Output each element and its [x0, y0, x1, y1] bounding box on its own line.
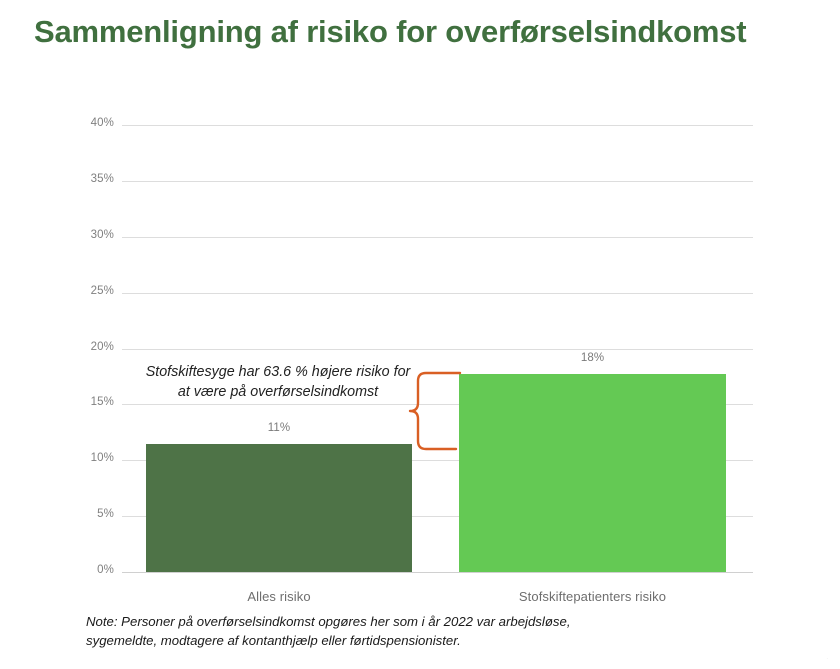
y-axis-tick-label: 20% — [74, 341, 114, 353]
note-line-2: sygemeldte, modtagere af kontanthjælp el… — [86, 631, 786, 650]
gridline — [122, 349, 753, 350]
bar-1[interactable] — [146, 444, 412, 572]
gridline — [122, 293, 753, 294]
y-axis-tick-label: 40% — [74, 117, 114, 129]
bar-2[interactable] — [459, 374, 726, 572]
gridline — [122, 237, 753, 238]
y-axis-tick-label: 10% — [74, 452, 114, 464]
note-line-1: Note: Personer på overførselsindkomst op… — [86, 612, 786, 631]
corner-mark: · — [826, 655, 832, 663]
x-axis-category-label: Alles risiko — [106, 589, 452, 604]
axis-baseline — [122, 572, 753, 573]
chart-page: Sammenligning af risiko for overførselsi… — [0, 0, 840, 669]
bar-chart-plot: 0%5%10%15%20%25%30%35%40%11%Alles risiko… — [0, 0, 840, 669]
bar-value-label: 18% — [459, 352, 726, 364]
y-axis-tick-label: 15% — [74, 396, 114, 408]
chart-annotation: Stofskiftesyge har 63.6 % højere risiko … — [132, 362, 424, 402]
bar-value-label: 11% — [146, 422, 412, 434]
x-axis-category-label: Stofskiftepatienters risiko — [419, 589, 766, 604]
annotation-line-2: at være på overførselsindkomst — [132, 382, 424, 402]
gridline — [122, 125, 753, 126]
y-axis-tick-label: 25% — [74, 285, 114, 297]
y-axis-tick-label: 5% — [74, 508, 114, 520]
y-axis-tick-label: 0% — [74, 564, 114, 576]
y-axis-tick-label: 35% — [74, 173, 114, 185]
annotation-line-1: Stofskiftesyge har 63.6 % højere risiko … — [132, 362, 424, 382]
chart-note: Note: Personer på overførselsindkomst op… — [86, 612, 786, 650]
brace-icon — [404, 370, 464, 452]
gridline — [122, 181, 753, 182]
y-axis-tick-label: 30% — [74, 229, 114, 241]
